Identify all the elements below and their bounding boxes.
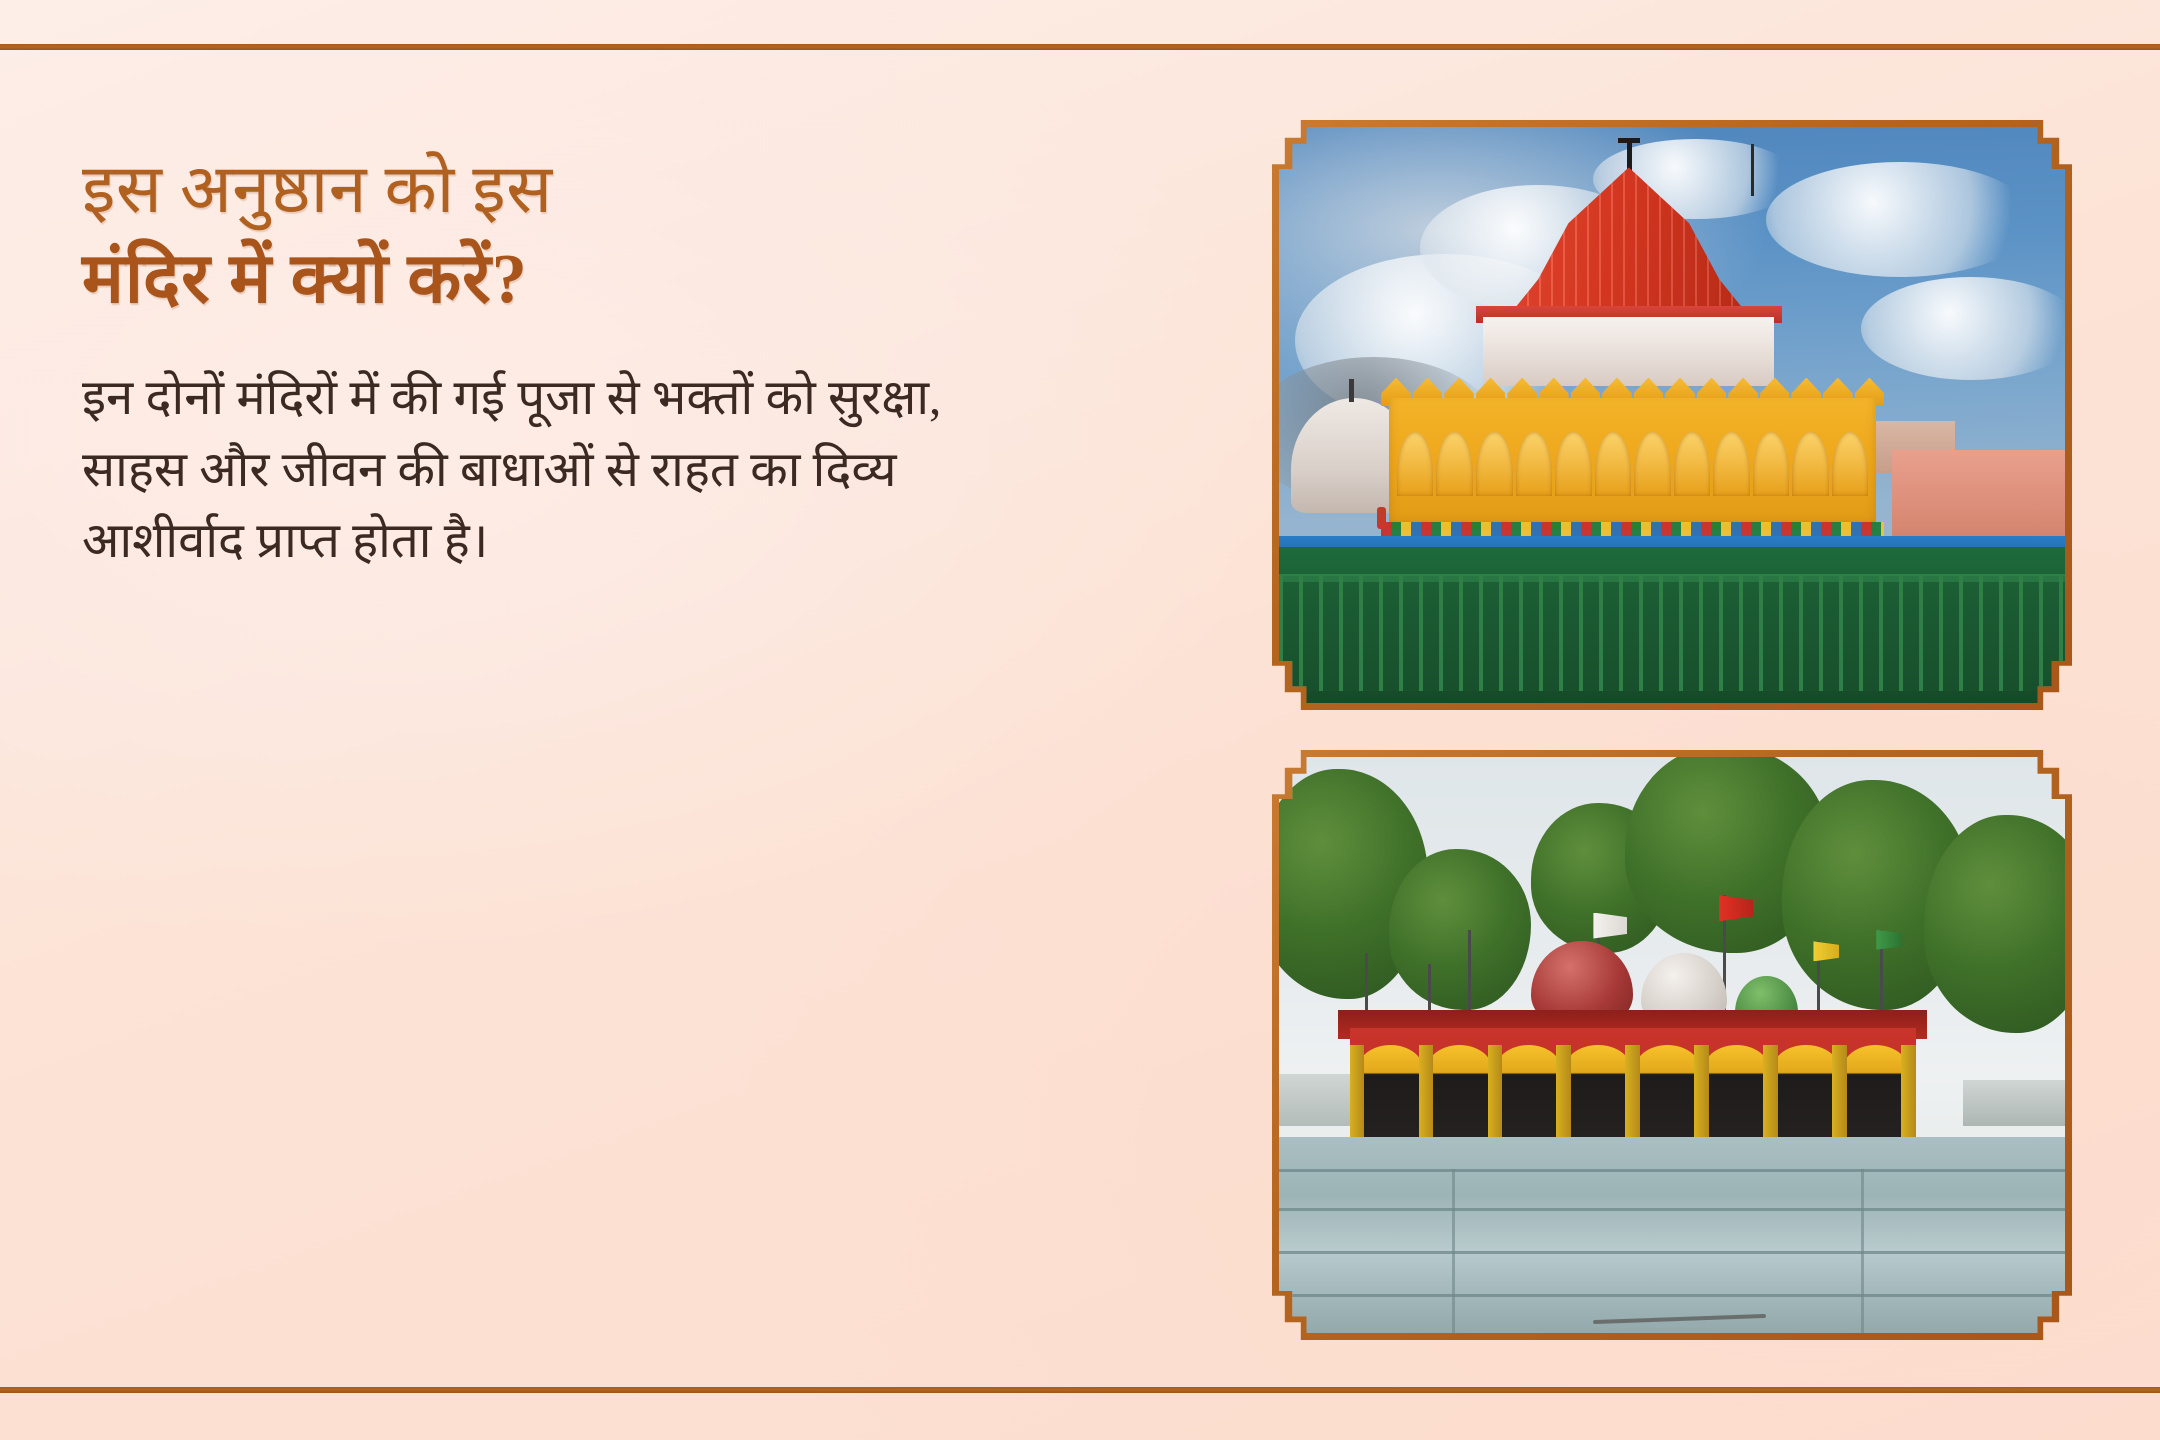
step-edge xyxy=(1279,1294,2065,1297)
tree xyxy=(1389,849,1530,1010)
white-drum-storey xyxy=(1483,317,1774,386)
stone-steps xyxy=(1279,1137,2065,1333)
poster-canvas: इस अनुष्ठान को इस मंदिर में क्यों करें? … xyxy=(0,0,2160,1440)
step-corner xyxy=(1452,1169,1455,1333)
body-paragraph: इन दोनों मंदिरों में की गई पूजा से भक्तो… xyxy=(82,362,962,577)
side-shelter xyxy=(1963,1080,2065,1126)
temple-photo-red-shikhara xyxy=(1279,127,2065,703)
arcade-arch-row xyxy=(1397,432,1869,495)
bottom-divider-rule xyxy=(0,1387,2160,1393)
flag-pole xyxy=(1751,144,1754,196)
temple-photo-frame-bottom xyxy=(1272,750,2072,1340)
green-railing xyxy=(1279,576,2065,691)
step-corner xyxy=(1861,1169,1864,1333)
cloud xyxy=(1766,162,2033,277)
text-column: इस अनुष्ठान को इस मंदिर में क्यों करें? … xyxy=(82,150,982,577)
step-edge xyxy=(1279,1251,2065,1254)
temple-photo-pillared-hall xyxy=(1279,757,2065,1333)
step-edge xyxy=(1279,1169,2065,1172)
step-edge xyxy=(1279,1208,2065,1211)
top-divider-rule xyxy=(0,44,2160,50)
temple-photo-frame-top xyxy=(1272,120,2072,710)
page-title-line-1: इस अनुष्ठान को इस xyxy=(82,150,982,229)
devotee-figure xyxy=(1377,507,1386,529)
page-title-line-2: मंदिर में क्यों करें? xyxy=(82,239,982,320)
